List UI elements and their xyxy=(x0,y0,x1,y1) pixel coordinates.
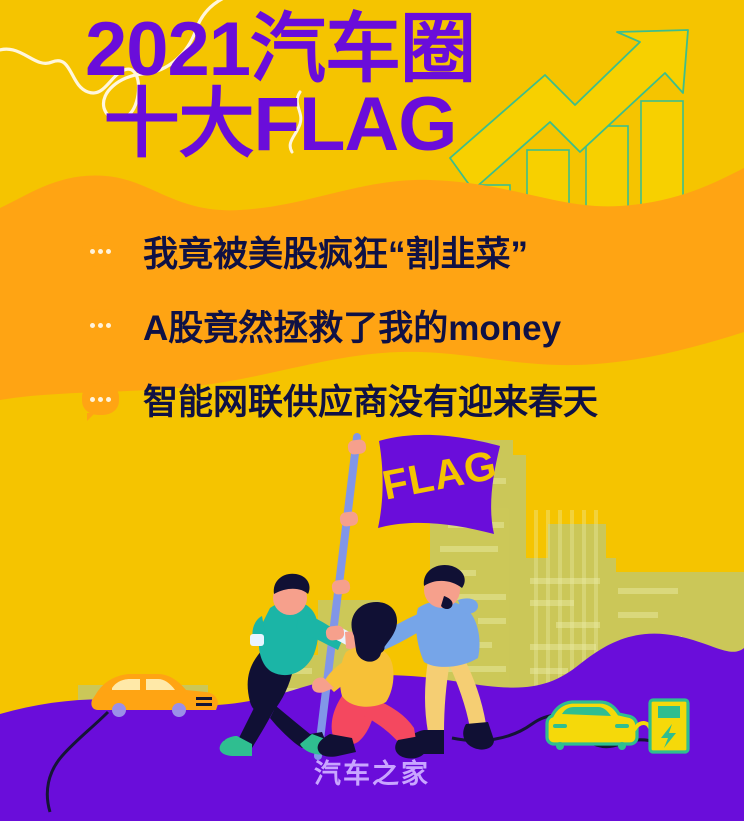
brand-logo: 汽车之家 xyxy=(0,752,744,791)
list-item-label: A股竟然拯救了我的money xyxy=(143,300,561,351)
poster-canvas: FLAG xyxy=(0,0,744,821)
list-item[interactable]: 我竟被美股疯狂“割韭菜” xyxy=(82,216,682,286)
chat-bubble-icon xyxy=(82,235,119,267)
list-item-label: 智能网联供应商没有迎来春天 xyxy=(143,374,598,425)
list-item-label: 我竟被美股疯狂“割韭菜” xyxy=(143,226,528,277)
list-item[interactable]: A股竟然拯救了我的money xyxy=(82,290,682,360)
chat-bubble-icon xyxy=(82,309,119,341)
list-item[interactable]: 智能网联供应商没有迎来春天 xyxy=(82,364,682,434)
chat-bubble-icon xyxy=(82,383,119,415)
brand-text: 汽车之家 xyxy=(314,759,430,789)
bullet-list: 我竟被美股疯狂“割韭菜” A股竟然拯救了我的money 智能网联供应商没有迎来春… xyxy=(82,216,682,438)
